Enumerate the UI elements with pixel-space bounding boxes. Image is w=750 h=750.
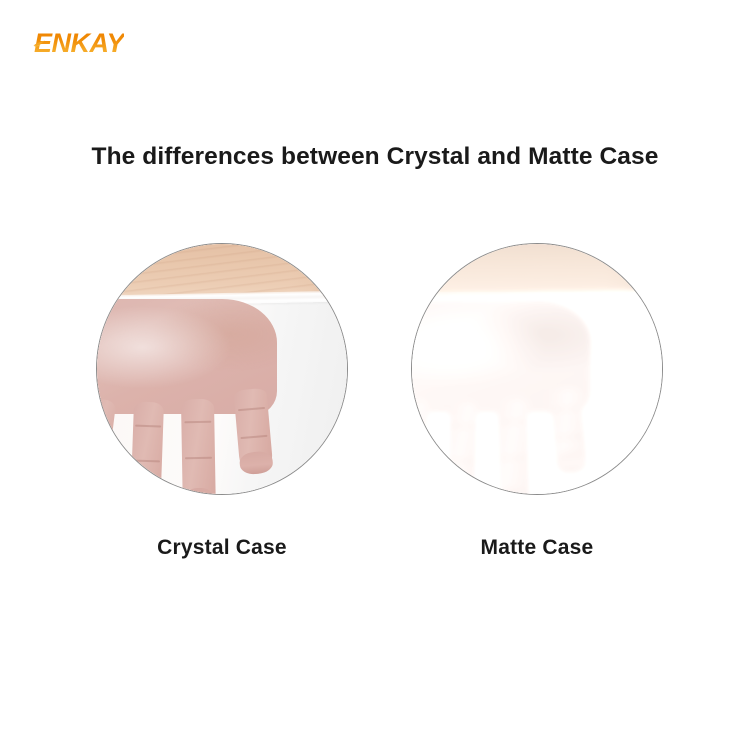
crystal-case-photo [96,243,348,495]
crystal-hand-scene [97,244,347,494]
finger-middle [181,399,216,495]
page-title: The differences between Crystal and Matt… [0,141,750,173]
product-comparison-page: ENKAY The differences between Crystal an… [0,0,750,750]
brand-logo: ENKAY [34,29,124,57]
matte-frost-overlay [412,292,662,495]
swoosh-icon [32,34,48,50]
caption-crystal-case: Crystal Case [96,536,348,560]
finger-ring [130,401,164,495]
comparison-row: Crystal Case [0,243,750,583]
matte-hand-scene [412,244,662,494]
caption-matte-case: Matte Case [411,536,663,560]
comparison-item-crystal: Crystal Case [96,243,348,495]
comparison-item-matte: Matte Case [411,243,663,495]
matte-case-photo [411,243,663,495]
